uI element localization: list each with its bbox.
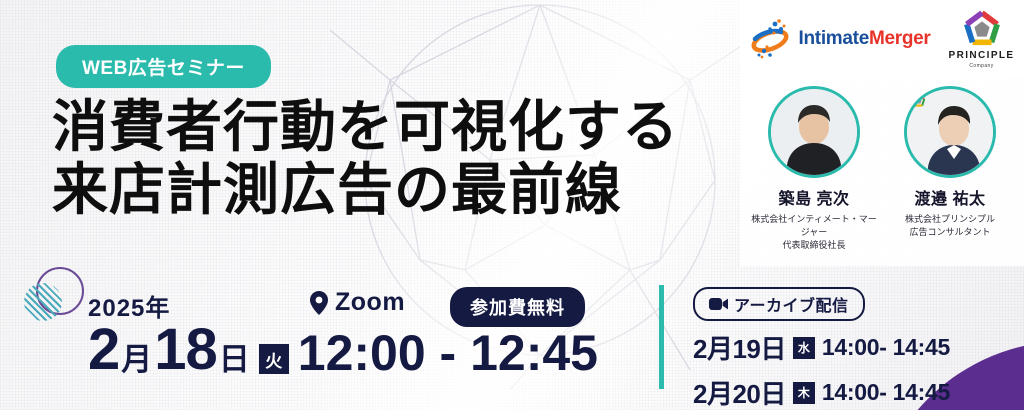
event-time: 12:00 - 12:45 bbox=[298, 328, 598, 379]
speaker-name: 渡邉 祐太 bbox=[885, 185, 1015, 209]
principle-sub-label: Company bbox=[969, 63, 993, 69]
archive-time: 14:00- 14:45 bbox=[822, 334, 950, 361]
speaker-photo-2 bbox=[907, 89, 993, 175]
avatar bbox=[768, 86, 860, 178]
page-title: 消費者行動を可視化する来店計測広告の最前線 bbox=[52, 96, 679, 221]
archive-time: 14:00- 14:45 bbox=[822, 379, 950, 406]
intimate-merger-wordmark: IntimateMerger bbox=[799, 28, 931, 50]
decorative-hatched-circle bbox=[24, 283, 62, 321]
event-day-unit: 日 bbox=[219, 344, 250, 379]
intimate-merger-mark-icon bbox=[750, 17, 794, 61]
location-pin-icon bbox=[310, 291, 328, 315]
platform-label: Zoom bbox=[335, 288, 405, 317]
archive-date: 2月20日 bbox=[693, 374, 786, 410]
seminar-category-badge: WEB広告セミナー bbox=[56, 45, 271, 88]
speaker-affiliation: 株式会社インティメート・マージャー 代表取締役社長 bbox=[749, 213, 879, 252]
speaker-company: 株式会社インティメート・マージャー bbox=[751, 214, 876, 237]
video-camera-icon bbox=[709, 297, 728, 311]
speaker-affiliation: 株式会社プリンシプル 広告コンサルタント bbox=[885, 213, 1015, 239]
logo-text-merger: Merger bbox=[869, 28, 931, 49]
event-month-number: 2 bbox=[88, 321, 119, 379]
archive-badge: アーカイブ配信 bbox=[693, 287, 865, 321]
event-date-row: 2 月 18 日 火 12:00 - 12:45 bbox=[88, 321, 598, 379]
speaker-card: 築島 亮次 株式会社インティメート・マージャー 代表取締役社長 bbox=[749, 86, 879, 252]
speakers-panel: IntimateMerger PRINCIPLE Company bbox=[740, 0, 1024, 266]
speaker-role: 代表取締役社長 bbox=[782, 240, 845, 250]
event-platform: Zoom bbox=[310, 288, 405, 317]
speaker-name: 築島 亮次 bbox=[749, 185, 879, 209]
speaker-role: 広告コンサルタント bbox=[909, 227, 990, 237]
archive-badge-label: アーカイブ配信 bbox=[734, 292, 849, 316]
webinar-banner: WEB広告セミナー 消費者行動を可視化する来店計測広告の最前線 2025年 2 … bbox=[0, 0, 1024, 410]
archive-weekday-badge: 水 bbox=[793, 337, 815, 359]
archive-date: 2月19日 bbox=[693, 329, 786, 366]
event-day-number: 18 bbox=[154, 321, 217, 379]
intimate-merger-logo: IntimateMerger bbox=[750, 17, 931, 61]
free-admission-badge: 参加費無料 bbox=[450, 287, 585, 327]
logo-bar: IntimateMerger PRINCIPLE Company bbox=[740, 0, 1024, 78]
section-divider bbox=[659, 285, 664, 389]
event-weekday-badge: 火 bbox=[259, 344, 289, 374]
archive-session-row: 2月20日 木 14:00- 14:45 bbox=[693, 374, 950, 410]
speaker-card: 渡邉 祐太 株式会社プリンシプル 広告コンサルタント bbox=[885, 86, 1015, 252]
avatar bbox=[904, 86, 996, 178]
title-line-1: 消費者行動を可視化する bbox=[52, 95, 679, 158]
principle-pentagon-icon bbox=[963, 10, 1001, 48]
speaker-company: 株式会社プリンシプル bbox=[905, 214, 995, 224]
title-line-2: 来店計測広告の最前線 bbox=[52, 158, 622, 221]
archive-block: アーカイブ配信 2月19日 水 14:00- 14:45 2月20日 木 14:… bbox=[693, 287, 950, 410]
event-month-unit: 月 bbox=[121, 344, 152, 379]
logo-text-intimate: Intimate bbox=[799, 28, 869, 49]
speaker-list: 築島 亮次 株式会社インティメート・マージャー 代表取締役社長 bbox=[746, 86, 1018, 252]
archive-session-row: 2月19日 水 14:00- 14:45 bbox=[693, 329, 950, 366]
speaker-photo-1 bbox=[771, 89, 857, 175]
archive-weekday-badge: 木 bbox=[793, 382, 815, 404]
principle-logo: PRINCIPLE Company bbox=[949, 10, 1015, 69]
principle-wordmark: PRINCIPLE bbox=[949, 50, 1015, 61]
